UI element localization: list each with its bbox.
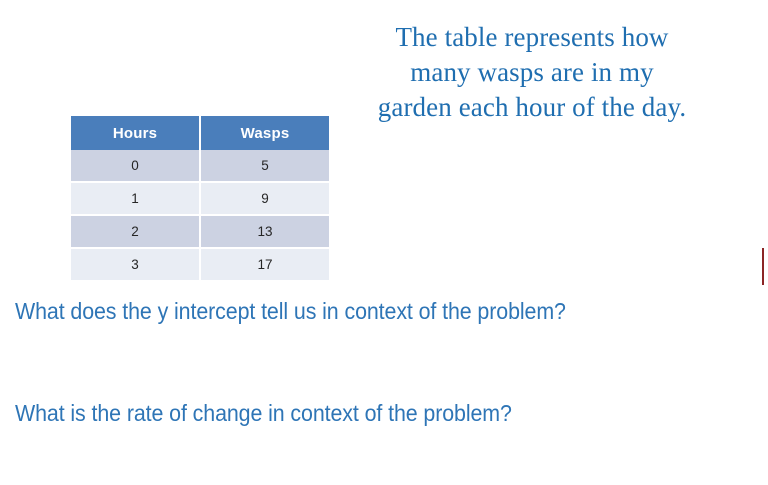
slide-heading: The table represents how many wasps are … [330, 20, 734, 125]
table: Hours Wasps 0 5 1 9 2 13 3 17 [71, 116, 329, 280]
wasps-data-table: Hours Wasps 0 5 1 9 2 13 3 17 [71, 116, 327, 280]
cell-hours: 1 [71, 182, 200, 215]
edge-marker-line [762, 248, 764, 285]
cell-wasps: 13 [200, 215, 329, 248]
table-body: 0 5 1 9 2 13 3 17 [71, 150, 329, 280]
table-row: 2 13 [71, 215, 329, 248]
table-header-row: Hours Wasps [71, 116, 329, 150]
cell-wasps: 17 [200, 248, 329, 280]
table-row: 3 17 [71, 248, 329, 280]
column-header-wasps: Wasps [200, 116, 329, 150]
table-row: 1 9 [71, 182, 329, 215]
table-header: Hours Wasps [71, 116, 329, 150]
cell-hours: 0 [71, 150, 200, 182]
heading-line-1: The table represents how [330, 20, 734, 55]
cell-wasps: 5 [200, 150, 329, 182]
cell-wasps: 9 [200, 182, 329, 215]
heading-line-2: many wasps are in my [330, 55, 734, 90]
question-rate-of-change: What is the rate of change in context of… [15, 400, 512, 427]
table-row: 0 5 [71, 150, 329, 182]
heading-line-3: garden each hour of the day. [330, 90, 734, 125]
question-y-intercept: What does the y intercept tell us in con… [15, 298, 566, 325]
cell-hours: 2 [71, 215, 200, 248]
cell-hours: 3 [71, 248, 200, 280]
column-header-hours: Hours [71, 116, 200, 150]
